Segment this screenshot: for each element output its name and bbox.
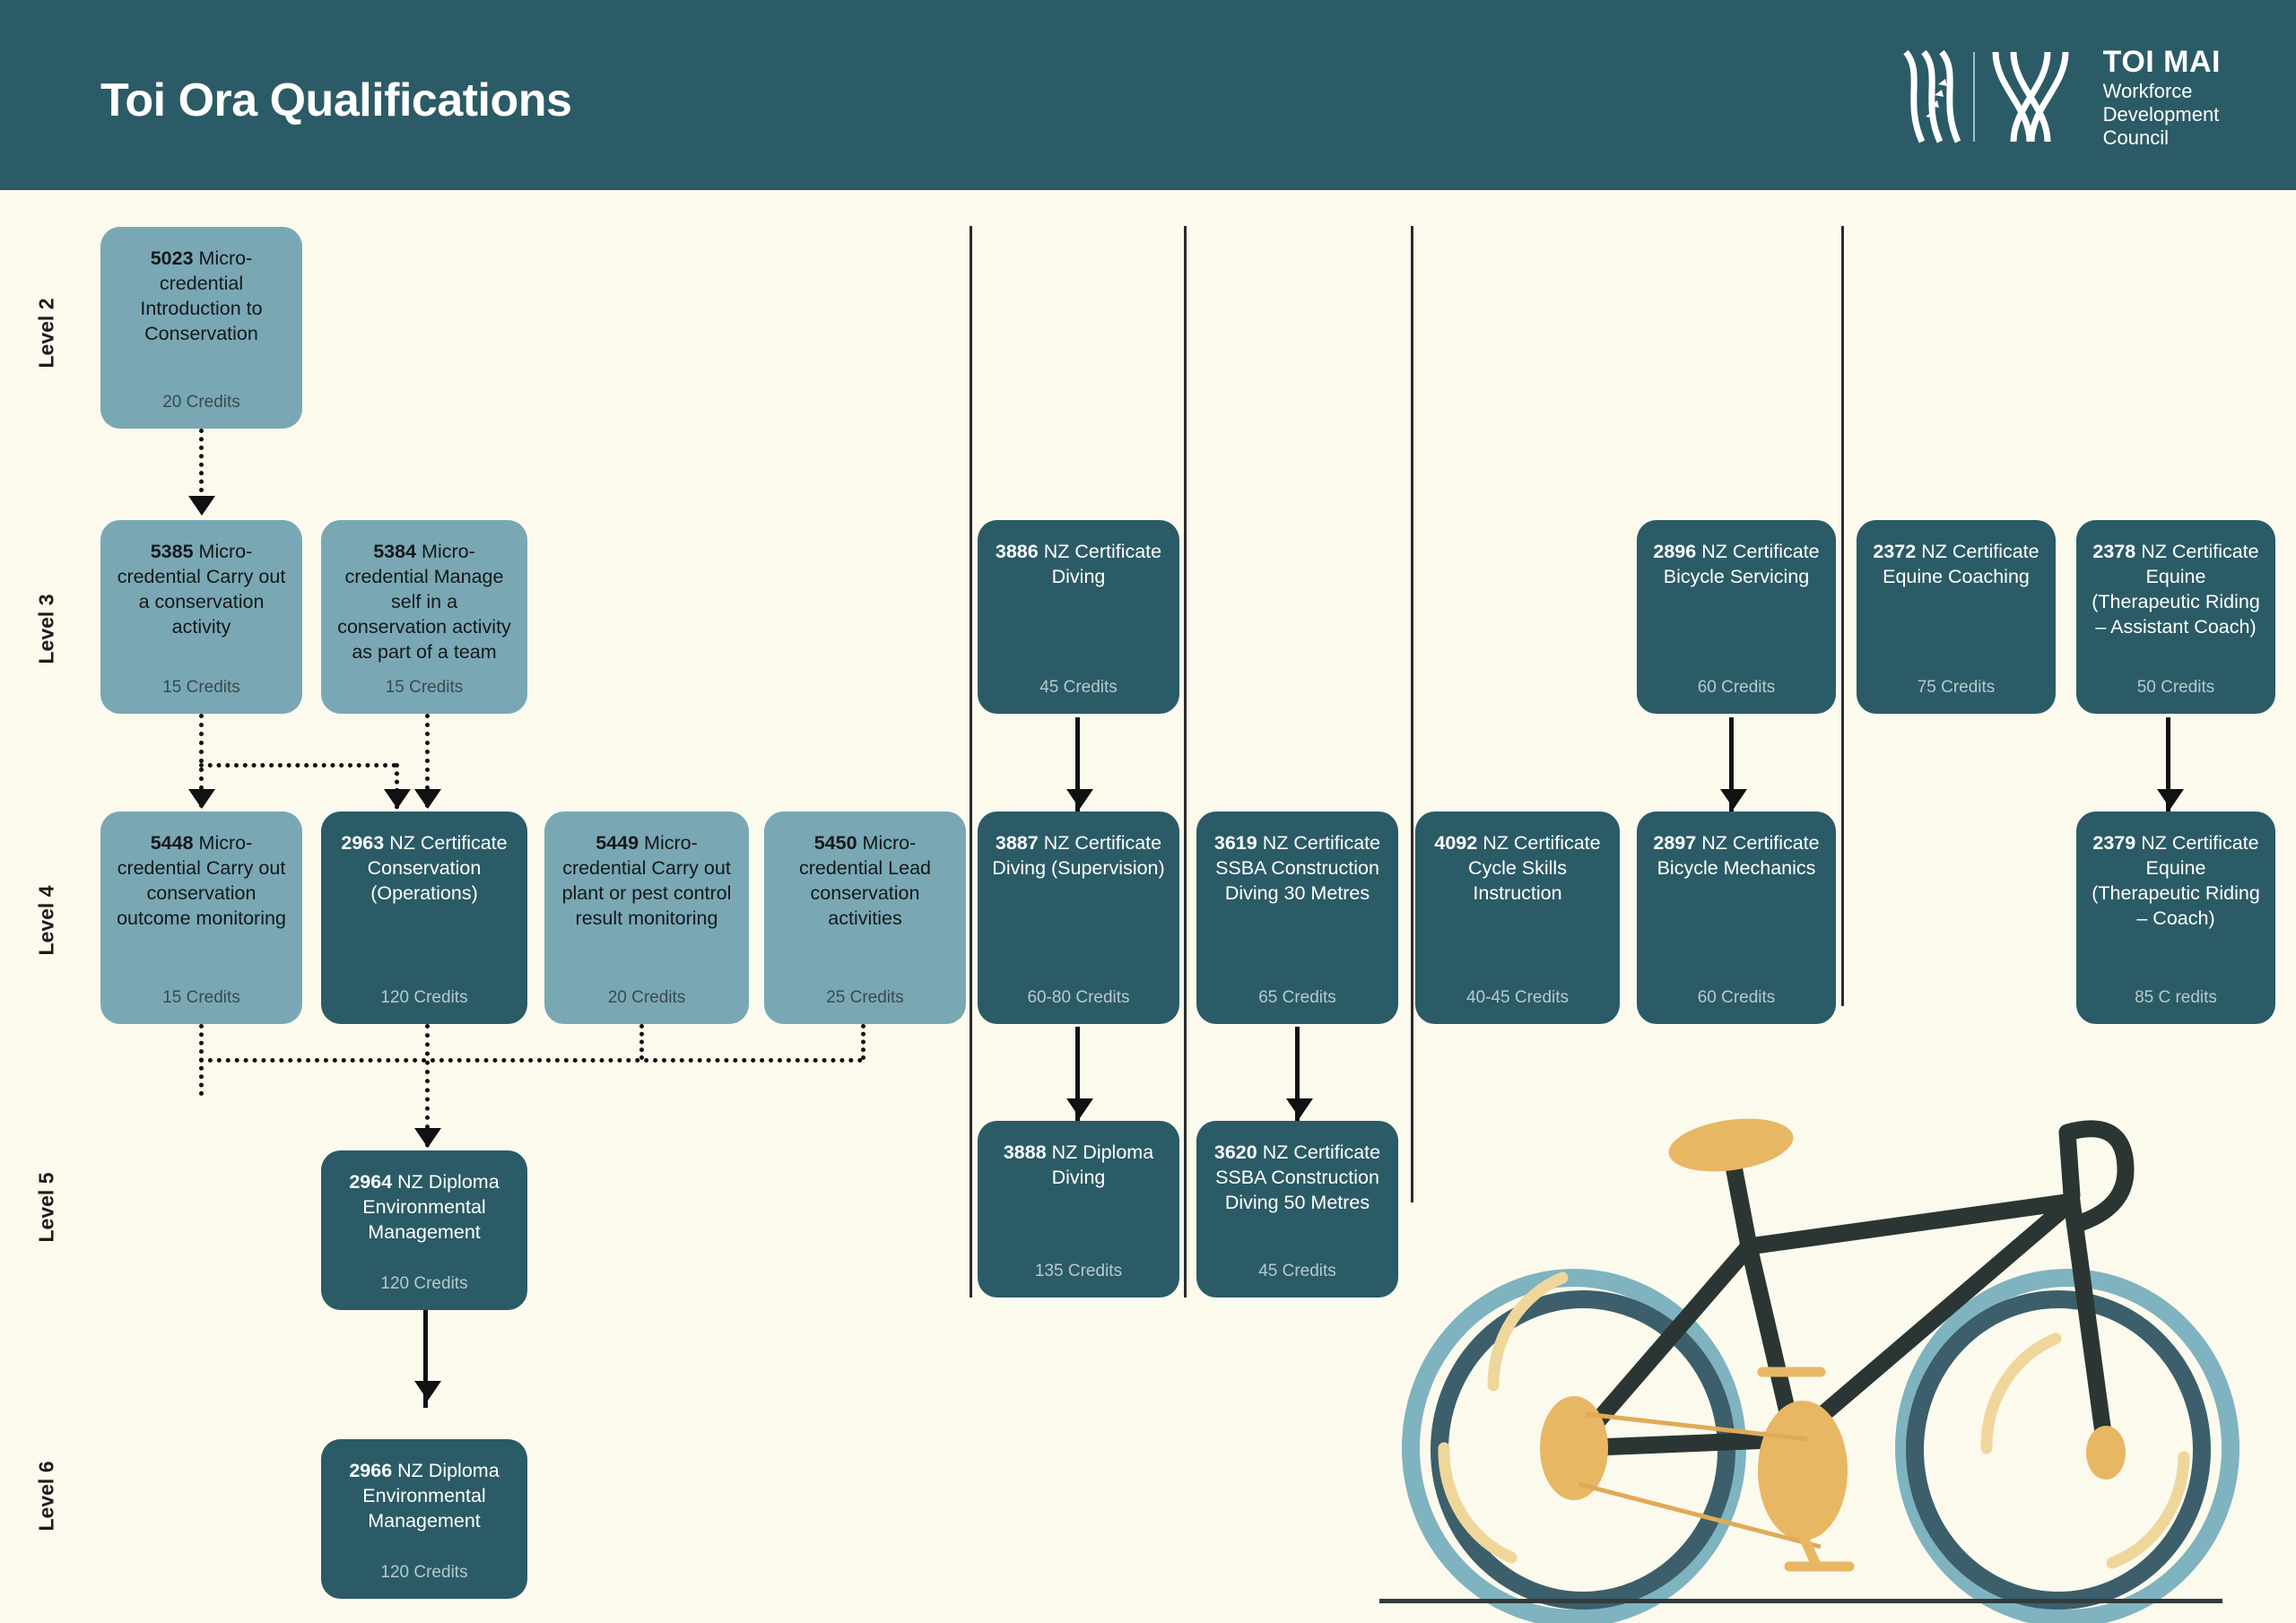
qualification-name-2963: NZ Certificate Conservation (Operations) — [368, 832, 508, 904]
arrow-3887-to-3888 — [1066, 1098, 1093, 1118]
qualification-name-5385: Micro-credential Carry out a conservatio… — [117, 541, 286, 638]
logo-brand: TOI MAI — [2103, 44, 2221, 80]
qualification-title-5385: 5385 Micro-credential Carry out a conser… — [115, 540, 288, 640]
qualification-title-3619: 3619 NZ Certificate SSBA Construction Di… — [1211, 831, 1384, 907]
qualification-box-5449[interactable]: 5449 Micro-credential Carry out plant or… — [544, 811, 749, 1024]
toi-mai-logo-icon — [1895, 47, 2083, 147]
connector-5450-down — [861, 1024, 865, 1060]
qualification-box-2896[interactable]: 2896 NZ Certificate Bicycle Servicing 60… — [1637, 520, 1836, 714]
qualification-credits-5448: 15 Credits — [162, 988, 240, 1011]
saddle — [1665, 1112, 1796, 1179]
qualification-box-5448[interactable]: 5448 Micro-credential Carry out conserva… — [100, 811, 302, 1024]
logo-sub-line-1: Workforce — [2103, 80, 2221, 103]
qualification-credits-2378: 50 Credits — [2137, 678, 2215, 701]
qualification-box-2966[interactable]: 2966 NZ Diploma Environmental Management… — [321, 1439, 527, 1599]
qualification-code-4092: 4092 — [1434, 832, 1477, 854]
qualification-code-2896: 2896 — [1653, 541, 1696, 562]
arrow-5385-to-2963 — [384, 789, 411, 809]
qualification-code-3887: 3887 — [996, 832, 1039, 854]
qualification-title-5023: 5023 Micro-credential Introduction to Co… — [115, 247, 288, 347]
qualification-name-5448: Micro-credential Carry out conservation … — [117, 832, 286, 929]
arrow-5385-to-5448 — [188, 789, 215, 809]
qualification-name-3888: NZ Diploma Diving — [1052, 1141, 1154, 1188]
qualification-title-2964: 2964 NZ Diploma Environmental Management — [335, 1170, 513, 1245]
connector-level4-bus — [199, 1058, 863, 1063]
qualification-credits-5450: 25 Credits — [826, 988, 904, 1011]
qualification-name-3886: NZ Certificate Diving — [1044, 541, 1161, 587]
qualification-title-3887: 3887 NZ Certificate Diving (Supervision) — [992, 831, 1165, 881]
qualification-title-4092: 4092 NZ Certificate Cycle Skills Instruc… — [1430, 831, 1605, 907]
level-label-3: Level 3 — [35, 576, 59, 683]
qualification-title-5384: 5384 Micro-credential Manage self in a c… — [335, 540, 513, 665]
qualification-box-4092[interactable]: 4092 NZ Certificate Cycle Skills Instruc… — [1415, 811, 1620, 1024]
qualification-code-2378: 2378 — [2092, 541, 2135, 562]
bicycle-illustration — [1354, 1063, 2296, 1623]
qualification-credits-3620: 45 Credits — [1258, 1262, 1336, 1285]
qualification-code-5450: 5450 — [814, 832, 857, 854]
page-header: Toi Ora Qualifications — [0, 0, 2296, 190]
qualification-code-5384: 5384 — [373, 541, 416, 562]
qualification-box-2379[interactable]: 2379 NZ Certificate Equine (Therapeutic … — [2076, 811, 2275, 1024]
connector-5385-down — [199, 714, 204, 826]
page-title: Toi Ora Qualifications — [100, 74, 571, 127]
qualification-code-2963: 2963 — [341, 832, 384, 854]
qualification-box-2897[interactable]: 2897 NZ Certificate Bicycle Mechanics 60… — [1637, 811, 1836, 1024]
qualification-box-5450[interactable]: 5450 Micro-credential Lead conservation … — [764, 811, 966, 1024]
level-label-6: Level 6 — [35, 1443, 59, 1550]
column-separator-1 — [970, 226, 972, 1298]
qualification-title-3888: 3888 NZ Diploma Diving — [992, 1141, 1165, 1191]
qualification-credits-3887: 60-80 Credits — [1027, 988, 1129, 1011]
qualification-credits-4092: 40-45 Credits — [1466, 988, 1569, 1011]
toi-mai-logo: TOI MAI Workforce Development Council — [1895, 43, 2221, 151]
qualification-name-5384: Micro-credential Manage self in a conser… — [337, 541, 511, 663]
level-label-4: Level 4 — [35, 867, 59, 975]
qualification-credits-2372: 75 Credits — [1918, 678, 1996, 701]
qualification-code-5448: 5448 — [151, 832, 194, 854]
toi-mai-logo-text: TOI MAI Workforce Development Council — [2103, 44, 2221, 150]
qualification-title-2966: 2966 NZ Diploma Environmental Management — [335, 1459, 513, 1534]
column-separator-2 — [1184, 226, 1187, 1298]
qualification-box-5384[interactable]: 5384 Micro-credential Manage self in a c… — [321, 520, 527, 714]
connector-5449-down — [639, 1024, 644, 1060]
qualification-code-2964: 2964 — [349, 1171, 392, 1193]
qualification-code-2372: 2372 — [1873, 541, 1916, 562]
qualification-credits-2964: 120 Credits — [380, 1274, 467, 1298]
qualification-box-2372[interactable]: 2372 NZ Certificate Equine Coaching 75 C… — [1857, 520, 2056, 714]
qualification-box-3887[interactable]: 3887 NZ Certificate Diving (Supervision)… — [978, 811, 1179, 1024]
qualification-box-2964[interactable]: 2964 NZ Diploma Environmental Management… — [321, 1150, 527, 1310]
qualification-credits-3619: 65 Credits — [1258, 988, 1336, 1011]
qualification-code-2897: 2897 — [1653, 832, 1696, 854]
arrow-5023-to-5385 — [188, 496, 215, 516]
qualification-title-2896: 2896 NZ Certificate Bicycle Servicing — [1651, 540, 1822, 590]
logo-sub-line-3: Council — [2103, 126, 2221, 150]
qualification-box-2963[interactable]: 2963 NZ Certificate Conservation (Operat… — [321, 811, 527, 1024]
arrow-5384-to-2963 — [414, 789, 441, 809]
arrow-3619-to-3620 — [1286, 1098, 1313, 1118]
qualification-code-2966: 2966 — [349, 1460, 392, 1481]
connector-5385-to-2963-horizontal — [199, 763, 396, 768]
column-separator-3 — [1411, 226, 1413, 1202]
qualification-title-2897: 2897 NZ Certificate Bicycle Mechanics — [1651, 831, 1822, 881]
qualification-credits-3888: 135 Credits — [1035, 1262, 1122, 1285]
qualification-credits-2963: 120 Credits — [380, 988, 467, 1011]
qualification-code-3620: 3620 — [1214, 1141, 1257, 1163]
qualification-credits-2966: 120 Credits — [380, 1563, 467, 1586]
qualification-code-3888: 3888 — [1004, 1141, 1047, 1163]
arrow-3886-to-3887 — [1066, 789, 1093, 809]
qualification-code-5023: 5023 — [151, 247, 194, 269]
qualification-credits-5385: 15 Credits — [162, 678, 240, 701]
qualification-title-2379: 2379 NZ Certificate Equine (Therapeutic … — [2091, 831, 2261, 932]
qualification-title-5450: 5450 Micro-credential Lead conservation … — [778, 831, 952, 932]
qualification-box-2378[interactable]: 2378 NZ Certificate Equine (Therapeutic … — [2076, 520, 2275, 714]
arrow-2896-to-2897 — [1720, 789, 1747, 809]
qualification-title-2963: 2963 NZ Certificate Conservation (Operat… — [335, 831, 513, 907]
qualification-code-3619: 3619 — [1214, 832, 1257, 854]
level-label-2: Level 2 — [35, 280, 59, 387]
qualification-credits-5384: 15 Credits — [386, 678, 464, 701]
arrow-2378-to-2379 — [2157, 789, 2184, 809]
qualification-title-5449: 5449 Micro-credential Carry out plant or… — [559, 831, 735, 932]
connector-5384-to-2963 — [425, 714, 430, 826]
arrow-to-2964 — [414, 1128, 441, 1148]
qualification-code-2379: 2379 — [2092, 832, 2135, 854]
qualification-credits-3886: 45 Credits — [1039, 678, 1118, 701]
qualification-box-3619[interactable]: 3619 NZ Certificate SSBA Construction Di… — [1196, 811, 1398, 1024]
qualification-code-3886: 3886 — [996, 541, 1039, 562]
arrow-2964-to-2966 — [414, 1381, 441, 1401]
qualification-title-2378: 2378 NZ Certificate Equine (Therapeutic … — [2091, 540, 2261, 640]
qualification-credits-2897: 60 Credits — [1698, 988, 1776, 1011]
qualification-code-5385: 5385 — [151, 541, 194, 562]
level-label-5: Level 5 — [35, 1154, 59, 1262]
qualification-title-2372: 2372 NZ Certificate Equine Coaching — [1871, 540, 2041, 590]
column-separator-4 — [1841, 226, 1844, 1006]
qualification-box-5385[interactable]: 5385 Micro-credential Carry out a conser… — [100, 520, 302, 714]
qualification-name-5449: Micro-credential Carry out plant or pest… — [562, 832, 732, 929]
logo-sub-line-2: Development — [2103, 103, 2221, 126]
qualification-title-5448: 5448 Micro-credential Carry out conserva… — [115, 831, 288, 932]
ground-line — [1379, 1599, 2222, 1603]
qualification-box-3888[interactable]: 3888 NZ Diploma Diving 135 Credits — [978, 1121, 1179, 1298]
qualification-box-5023[interactable]: 5023 Micro-credential Introduction to Co… — [100, 227, 302, 429]
qualification-code-5449: 5449 — [596, 832, 639, 854]
qualification-title-3886: 3886 NZ Certificate Diving — [992, 540, 1165, 590]
qualification-box-3886[interactable]: 3886 NZ Certificate Diving 45 Credits — [978, 520, 1179, 714]
qualification-credits-2896: 60 Credits — [1698, 678, 1776, 701]
qualification-name-4092: NZ Certificate Cycle Skills Instruction — [1468, 832, 1601, 904]
qualification-credits-5023: 20 Credits — [162, 393, 240, 416]
qualification-credits-5449: 20 Credits — [608, 988, 686, 1011]
qualification-credits-2379: 85 C redits — [2135, 988, 2217, 1011]
